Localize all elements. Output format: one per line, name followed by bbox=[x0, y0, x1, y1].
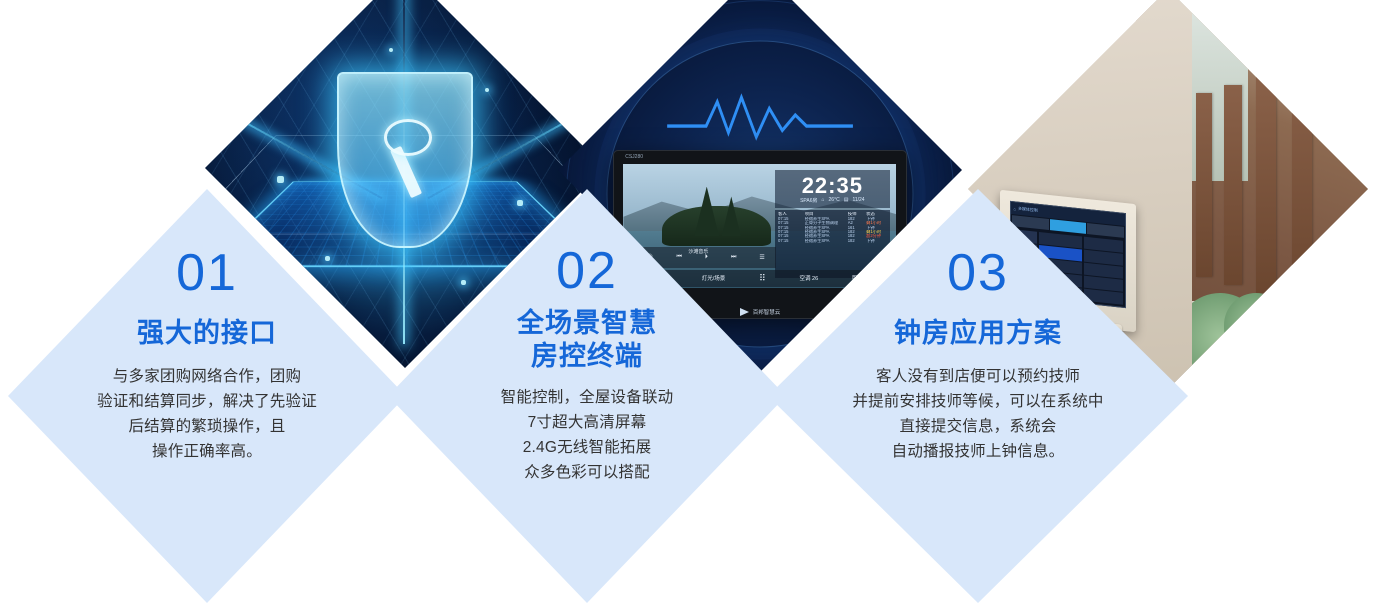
potted-plant bbox=[1224, 293, 1288, 357]
date-value: 11/24 bbox=[852, 197, 864, 203]
panel-number-3: 03 bbox=[947, 247, 1009, 299]
temperature-icon: ⌂ bbox=[822, 197, 825, 203]
panel-desc-1-line-1: 验证和结算同步，解决了先验证 bbox=[97, 389, 317, 414]
wood-slat bbox=[1256, 77, 1276, 293]
diamond-feature-banner: CSJ280 22:35 SPA6房 ⌂ 26°C ▤ bbox=[0, 0, 1381, 603]
clock-time: 22:35 bbox=[802, 175, 863, 197]
next-icon[interactable]: ⏭ bbox=[731, 254, 736, 261]
panel-number-1: 01 bbox=[176, 247, 238, 299]
temperature-value: 26°C bbox=[829, 197, 840, 203]
panel-desc-1-line-3: 操作正确率高。 bbox=[97, 439, 317, 464]
panel-desc-3-line-2: 直接提交信息，系统会 bbox=[852, 414, 1103, 439]
cell-tech: 182 bbox=[848, 239, 864, 243]
panel-desc-1-line-0: 与多家团购网络合作，团购 bbox=[97, 364, 317, 389]
clock-subline: SPA6房 ⌂ 26°C ▤ 11/24 bbox=[800, 197, 865, 204]
control-panel-title: 多媒体控制 bbox=[1018, 206, 1038, 214]
wood-slat bbox=[1224, 85, 1242, 285]
panel-desc-2-line-1: 7寸超大高清屏幕 bbox=[501, 410, 674, 435]
panel-desc-1: 与多家团购网络合作，团购 验证和结算同步，解决了先验证 后结算的繁琐操作，且 操… bbox=[97, 364, 317, 464]
panel-title-2: 全场景智慧 房控终端 bbox=[517, 307, 657, 373]
playlist-icon[interactable]: ☰ bbox=[759, 254, 764, 261]
panel-desc-3-line-0: 客人没有到店便可以预约技师 bbox=[852, 364, 1103, 389]
panel-title-1: 强大的接口 bbox=[137, 317, 277, 350]
panel-desc-2: 智能控制，全屋设备联动 7寸超大高清屏幕 2.4G无线智能拓展 众多色彩可以搭配 bbox=[501, 385, 674, 485]
key-icon bbox=[390, 146, 422, 198]
wood-slat bbox=[1196, 93, 1212, 277]
apps-grid-icon[interactable]: ⠿ bbox=[759, 273, 766, 284]
media-label: 沙滩音乐 bbox=[688, 248, 708, 255]
panel-title-3: 钟房应用方案 bbox=[894, 317, 1062, 350]
table-row: 07:15 经络养生SPA 182 下钟 bbox=[778, 239, 887, 243]
panel-title-1-line-0: 强大的接口 bbox=[137, 317, 277, 350]
quick-action-aircon[interactable]: 空调 26 bbox=[800, 274, 819, 282]
room-label: SPA6房 bbox=[800, 197, 817, 204]
tablet-brand-top: CSJ280 bbox=[625, 154, 643, 160]
prev-icon[interactable]: ⏮ bbox=[676, 254, 681, 261]
panel-desc-2-line-0: 智能控制，全屋设备联动 bbox=[501, 385, 674, 410]
cell-status: 下钟 bbox=[866, 239, 887, 243]
control-menu-right[interactable] bbox=[1084, 237, 1124, 305]
spark-dot bbox=[389, 48, 393, 52]
play-icon[interactable]: ⏵ bbox=[705, 254, 708, 261]
panel-desc-3-line-3: 自动播报技师上钟信息。 bbox=[852, 439, 1103, 464]
spark-dot bbox=[461, 280, 466, 285]
home-icon: ⌂ bbox=[1014, 206, 1016, 211]
panel-title-3-line-0: 钟房应用方案 bbox=[894, 317, 1062, 350]
guest-service-table: 客人 项目 技师 状态 07:15 经络养生SPA 182 下钟 07: bbox=[775, 210, 890, 278]
panel-desc-2-line-2: 2.4G无线智能拓展 bbox=[501, 435, 674, 460]
calendar-icon: ▤ bbox=[844, 197, 849, 203]
spark-dot bbox=[277, 176, 284, 183]
brand-logo-icon bbox=[740, 308, 749, 316]
quick-action-light[interactable]: 灯光/场景 bbox=[702, 274, 726, 282]
panel-desc-2-line-3: 众多色彩可以搭配 bbox=[501, 460, 674, 485]
brand-name: 百邦智慧云 bbox=[753, 308, 781, 316]
panel-desc-1-line-2: 后结算的繁琐操作，且 bbox=[97, 414, 317, 439]
panel-desc-3-line-1: 并提前安排技师等候，可以在系统中 bbox=[852, 389, 1103, 414]
spark-dot bbox=[485, 88, 489, 92]
panel-title-2-line-1: 房控终端 bbox=[517, 340, 657, 373]
wood-slat bbox=[1292, 69, 1312, 301]
quick-action-service[interactable]: 服务模式 bbox=[852, 274, 874, 282]
panel-title-2-line-0: 全场景智慧 bbox=[517, 307, 657, 340]
clock-widget: 22:35 SPA6房 ⌂ 26°C ▤ 11/24 bbox=[775, 170, 890, 207]
cell-item: 经络养生SPA bbox=[805, 239, 846, 243]
cell-guest: 07:15 bbox=[778, 239, 803, 243]
panel-desc-3: 客人没有到店便可以预约技师 并提前安排技师等候，可以在系统中 直接提交信息，系统… bbox=[852, 364, 1103, 464]
panel-number-2: 02 bbox=[556, 245, 618, 297]
spark-dot bbox=[325, 256, 330, 261]
spark-dot bbox=[517, 200, 523, 206]
heartbeat-pulse-icon bbox=[667, 93, 853, 141]
